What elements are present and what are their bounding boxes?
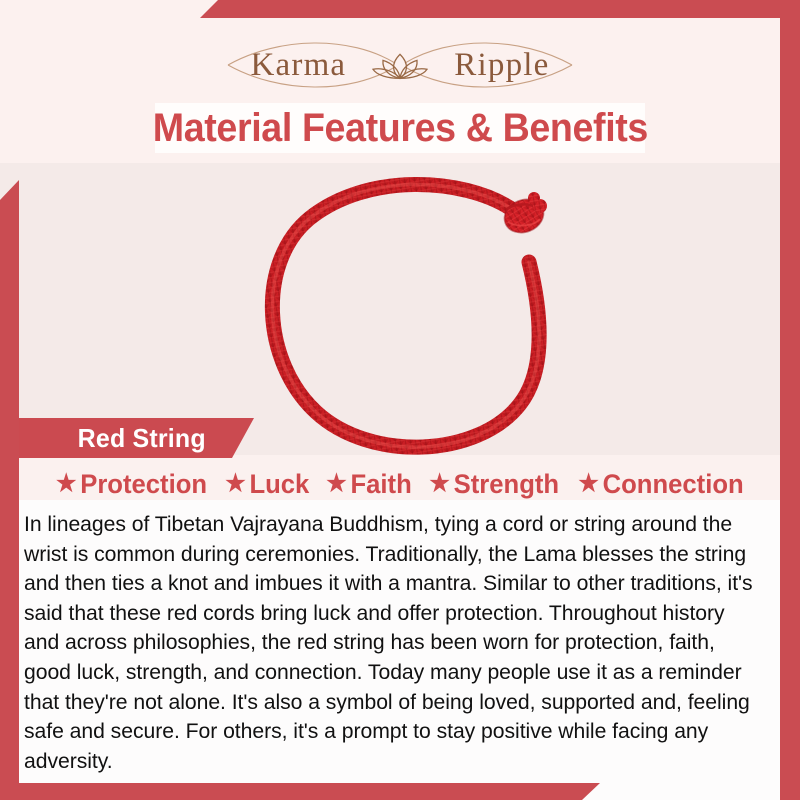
benefit-item-protection: ★ Protection (50, 471, 212, 498)
benefit-label: Protection (80, 471, 207, 498)
benefits-row: ★ Protection ★ Luck ★ Faith ★ Strength ★… (24, 466, 776, 502)
section-ribbon-red-string: Red String (19, 418, 254, 458)
brand-name-left: Karma (251, 49, 347, 82)
star-icon: ★ (225, 472, 245, 496)
infographic-poster: Karma Ripple Material Features & Benefit… (0, 0, 800, 800)
star-icon: ★ (578, 472, 598, 496)
benefit-label: Connection (603, 471, 744, 498)
product-image-red-string-bracelet (248, 176, 578, 466)
star-icon: ★ (326, 472, 346, 496)
frame-border-left (0, 180, 19, 800)
benefit-item-faith: ★ Faith (320, 471, 417, 498)
benefit-label: Strength (453, 471, 558, 498)
lotus-icon (371, 47, 429, 81)
benefit-item-strength: ★ Strength (423, 471, 564, 498)
ribbon-label: Red String (78, 423, 206, 454)
benefit-label: Luck (249, 471, 309, 498)
star-icon: ★ (56, 472, 76, 496)
benefit-label: Faith (350, 471, 411, 498)
benefit-item-connection: ★ Connection (573, 471, 750, 498)
frame-border-right (780, 0, 800, 800)
page-title: Material Features & Benefits (152, 108, 647, 148)
description-paragraph: In lineages of Tibetan Vajrayana Buddhis… (24, 510, 763, 776)
benefit-item-luck: ★ Luck (219, 471, 315, 498)
page-title-band: Material Features & Benefits (155, 103, 645, 153)
brand-name-right: Ripple (454, 49, 549, 82)
frame-border-bottom (0, 783, 600, 800)
frame-border-top (200, 0, 800, 18)
brand-logo: Karma Ripple (0, 34, 800, 96)
star-icon: ★ (429, 472, 449, 496)
